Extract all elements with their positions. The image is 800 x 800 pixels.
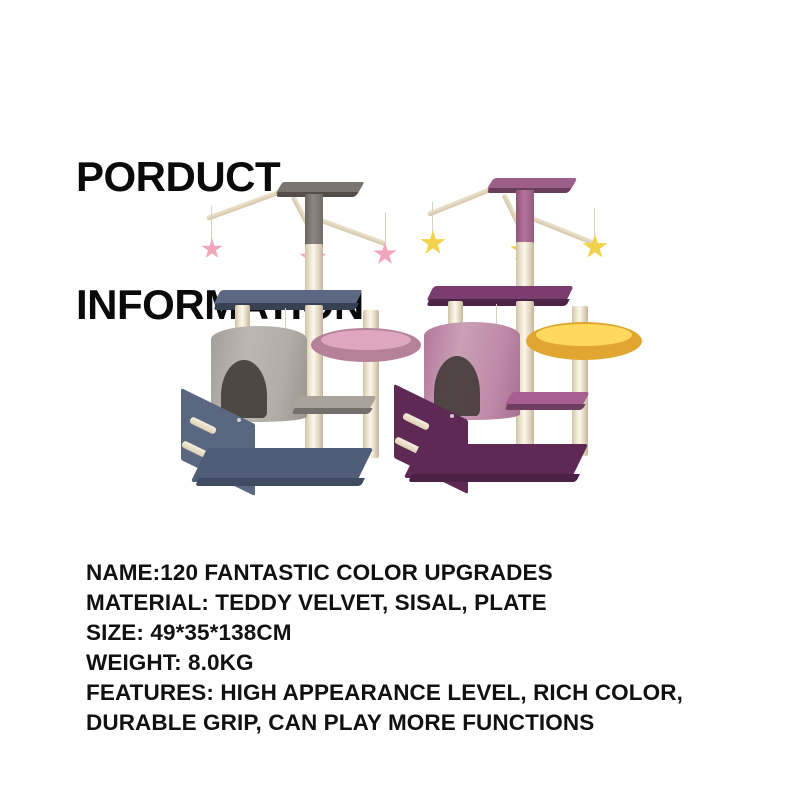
small-shelf-edge: [291, 408, 372, 414]
toy-string-right: [385, 212, 386, 244]
spec-material: MATERIAL: TEDDY VELVET, SISAL, PLATE: [86, 588, 746, 618]
spec-name: NAME:120 FANTASTIC COLOR UPGRADES: [86, 558, 746, 588]
base-plate: [404, 444, 589, 478]
top-post-upper: [516, 190, 534, 244]
spec-weight: WEIGHT: 8.0KG: [86, 648, 746, 678]
toy-string-left: [432, 202, 433, 232]
base-plate: [191, 448, 374, 482]
star-toy-left: [420, 230, 446, 256]
star-toy-right: [373, 242, 397, 266]
base-plate-edge: [408, 474, 580, 482]
ladder-screw-1: [450, 414, 454, 418]
support-post-center: [305, 305, 323, 463]
toy-string-right: [594, 208, 595, 236]
ladder-screw-1: [237, 418, 241, 422]
toy-arm-left: [206, 187, 287, 220]
small-shelf-edge: [504, 404, 585, 410]
hammock-bowl-inner: [321, 330, 411, 350]
star-toy-left: [201, 238, 223, 260]
hammock-bowl-inner: [536, 324, 632, 346]
toy-string-left: [211, 206, 212, 240]
top-post-upper: [305, 194, 323, 246]
product-specifications: NAME:120 FANTASTIC COLOR UPGRADES MATERI…: [86, 558, 746, 738]
spec-features-line-1: FEATURES: HIGH APPEARANCE LEVEL, RICH CO…: [86, 678, 746, 708]
spec-features-line-2: DURABLE GRIP, CAN PLAY MORE FUNCTIONS: [86, 708, 746, 738]
product-image: [0, 150, 800, 530]
cat-tree-purple-pink: [400, 150, 660, 530]
spec-size: SIZE: 49*35*138CM: [86, 618, 746, 648]
base-plate-edge: [195, 478, 365, 486]
